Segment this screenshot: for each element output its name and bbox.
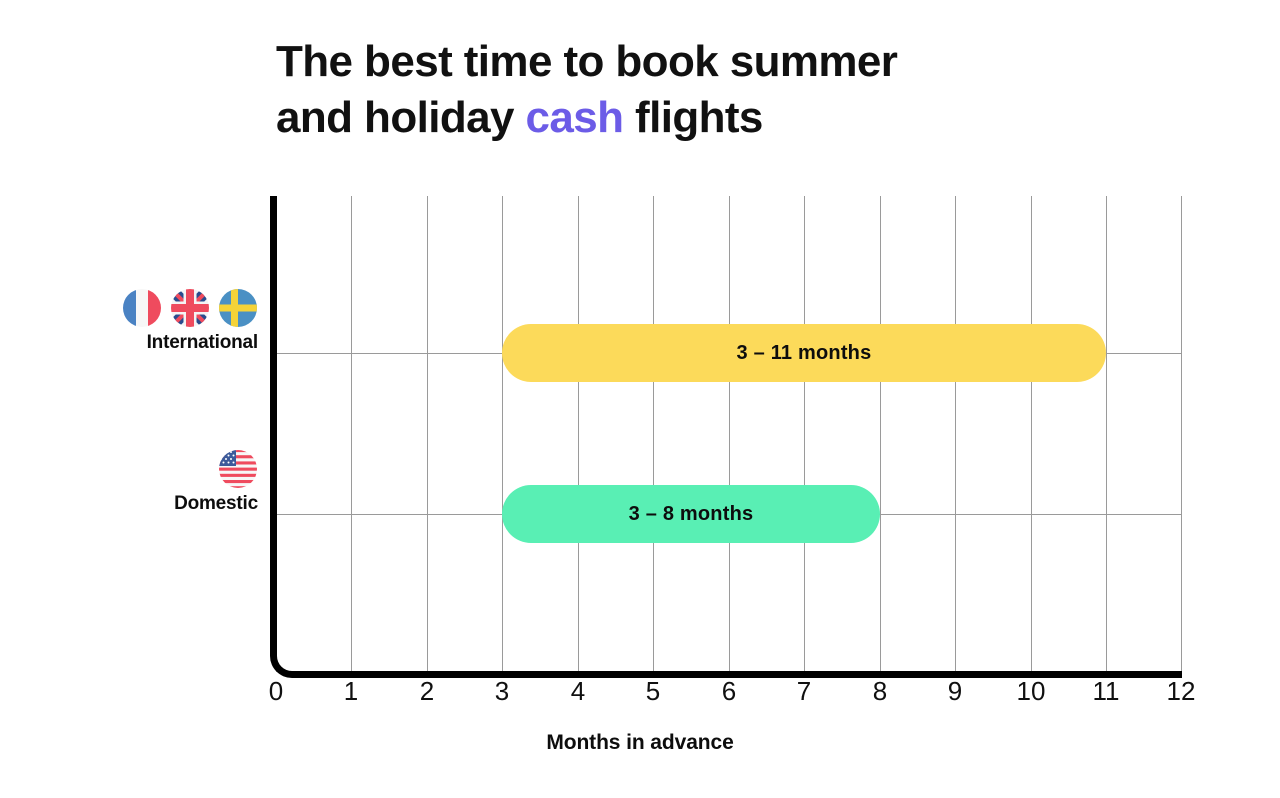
xtick-7: 7 bbox=[774, 676, 834, 707]
flag-uk-icon bbox=[170, 288, 210, 328]
xtick-3: 3 bbox=[472, 676, 532, 707]
xtick-0: 0 bbox=[246, 676, 306, 707]
flag-usa-icon bbox=[218, 449, 258, 489]
xtick-11: 11 bbox=[1076, 676, 1136, 707]
plot-area: 3 – 11 months 3 – 8 months bbox=[276, 196, 1182, 672]
gridline-v-7 bbox=[804, 196, 805, 672]
gridline-v-5 bbox=[653, 196, 654, 672]
xtick-2: 2 bbox=[397, 676, 457, 707]
gridline-v-1 bbox=[351, 196, 352, 672]
category-domestic: Domestic bbox=[18, 449, 258, 515]
category-label-domestic: Domestic bbox=[18, 493, 258, 515]
xtick-4: 4 bbox=[548, 676, 608, 707]
x-axis-title: Months in advance bbox=[0, 731, 1280, 755]
gridline-v-0 bbox=[276, 196, 277, 672]
gridline-v-2 bbox=[427, 196, 428, 672]
gridline-v-12 bbox=[1181, 196, 1182, 672]
category-label-international: International bbox=[18, 332, 258, 354]
xtick-10: 10 bbox=[1001, 676, 1061, 707]
gridline-v-6 bbox=[729, 196, 730, 672]
xtick-8: 8 bbox=[850, 676, 910, 707]
gridline-v-4 bbox=[578, 196, 579, 672]
flag-france-icon bbox=[122, 288, 162, 328]
gridline-v-3 bbox=[502, 196, 503, 672]
bar-domestic[interactable]: 3 – 8 months bbox=[502, 485, 880, 543]
domestic-flags bbox=[18, 449, 258, 489]
gridline-v-8 bbox=[880, 196, 881, 672]
xtick-9: 9 bbox=[925, 676, 985, 707]
xtick-6: 6 bbox=[699, 676, 759, 707]
international-flags bbox=[18, 288, 258, 328]
flag-sweden-icon bbox=[218, 288, 258, 328]
bar-international[interactable]: 3 – 11 months bbox=[502, 324, 1106, 382]
xtick-12: 12 bbox=[1151, 676, 1211, 707]
category-international: International bbox=[18, 288, 258, 354]
gridline-v-10 bbox=[1031, 196, 1032, 672]
gridline-v-9 bbox=[955, 196, 956, 672]
xtick-5: 5 bbox=[623, 676, 683, 707]
bar-international-label: 3 – 11 months bbox=[737, 342, 872, 365]
bar-domestic-label: 3 – 8 months bbox=[629, 503, 754, 526]
bar-chart: 3 – 11 months 3 – 8 months bbox=[0, 0, 1280, 798]
gridline-v-11 bbox=[1106, 196, 1107, 672]
xtick-1: 1 bbox=[321, 676, 381, 707]
